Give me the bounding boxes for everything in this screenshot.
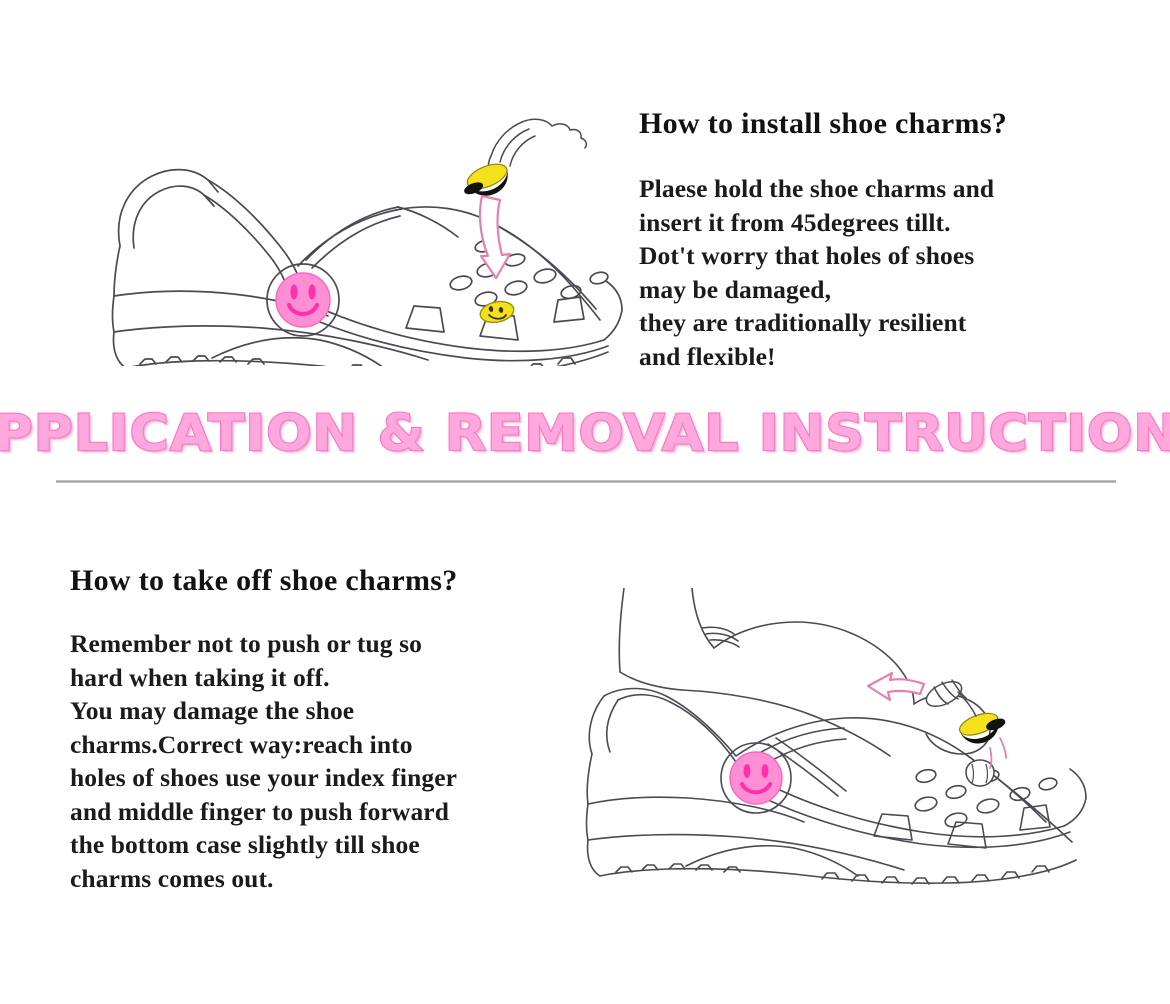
removal-body-line-7: the bottom case slightly till shoe xyxy=(70,828,457,862)
install-heading: How to install shoe charms? xyxy=(639,107,1007,141)
banner: APPLICATION & REMOVAL INSTRUCTIONS xyxy=(0,402,1170,464)
removal-body-line-3: You may damage the shoe xyxy=(70,694,457,728)
pink-smiley-charm xyxy=(730,752,782,804)
install-body-line-1: Plaese hold the shoe charms and xyxy=(639,172,994,206)
removal-body-line-4: charms.Correct way:reach into xyxy=(70,728,457,762)
removal-heading: How to take off shoe charms? xyxy=(70,564,458,598)
clog-shoe-install-diagram xyxy=(48,96,628,366)
install-body-text: Plaese hold the shoe charms and insert i… xyxy=(639,172,994,373)
install-body-line-6: and flexible! xyxy=(639,340,994,374)
yellow-smiley-charm xyxy=(478,299,515,326)
clog-shoe-removal-diagram xyxy=(528,588,1108,908)
pink-smiley-charm xyxy=(276,273,330,327)
pink-down-arrow xyxy=(480,196,510,278)
install-body-line-2: insert it from 45degrees tillt. xyxy=(639,206,994,240)
instruction-sheet: How to install shoe charms? Plaese hold … xyxy=(0,0,1170,1004)
white-charm-plug xyxy=(966,760,994,786)
install-body-line-5: they are traditionally resilient xyxy=(639,306,994,340)
removal-body-text: Remember not to push or tug so hard when… xyxy=(70,627,457,895)
install-body-line-4: may be damaged, xyxy=(639,273,994,307)
removal-body-line-2: hard when taking it off. xyxy=(70,661,457,695)
section-divider xyxy=(56,480,1116,483)
install-body-line-3: Dot't worry that holes of shoes xyxy=(639,239,994,273)
removal-body-line-6: and middle finger to push forward xyxy=(70,795,457,829)
removal-body-line-1: Remember not to push or tug so xyxy=(70,627,457,661)
removal-body-line-8: charms comes out. xyxy=(70,862,457,896)
removal-body-line-5: holes of shoes use your index finger xyxy=(70,761,457,795)
pink-left-arrow xyxy=(868,673,924,700)
pink-motion-marks xyxy=(990,738,1006,768)
banner-title: APPLICATION & REMOVAL INSTRUCTIONS xyxy=(0,406,1170,460)
fingertip-grip-icon xyxy=(923,677,976,716)
